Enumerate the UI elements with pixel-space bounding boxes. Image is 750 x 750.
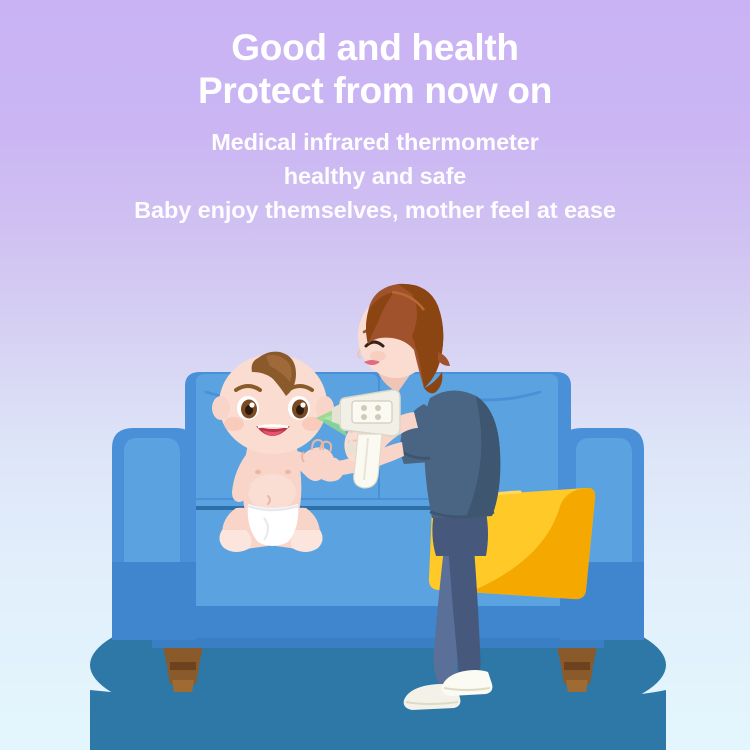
sofa-arm-left [112, 428, 196, 640]
subtitle-line-2: healthy and safe [0, 159, 750, 193]
headline-line-2: Protect from now on [0, 69, 750, 112]
subtitle-group: Medical infrared thermometer healthy and… [0, 125, 750, 227]
subtitle-line-3: Baby enjoy themselves, mother feel at ea… [0, 193, 750, 227]
headline-group: Good and health Protect from now on [0, 26, 750, 112]
banner-text-block: Good and health Protect from now on Medi… [0, 0, 750, 227]
subtitle-line-1: Medical infrared thermometer [0, 125, 750, 159]
headline-line-1: Good and health [0, 26, 750, 69]
